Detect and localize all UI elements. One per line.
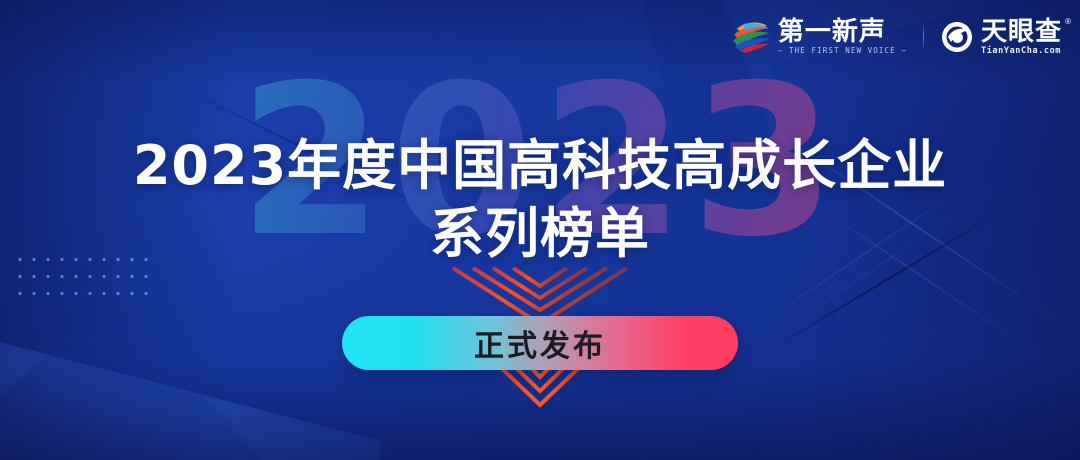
logo-tianyancha[interactable]: 天眼查 TianYanCha.com ® xyxy=(940,18,1062,56)
headline-line-2: 系列榜单 xyxy=(0,200,1080,268)
logo-tianyancha-tagline: TianYanCha.com xyxy=(981,46,1062,56)
swirl-ribbon-logo-icon xyxy=(731,20,771,54)
logo-bar: 第一新声 — THE FIRST NEW VOICE — 天眼查 TianYan… xyxy=(731,14,1062,60)
page-title: 2023年度中国高科技高成长企业 系列榜单 xyxy=(0,132,1080,268)
logo-diyixinsheng[interactable]: 第一新声 — THE FIRST NEW VOICE — xyxy=(731,18,907,56)
poster-banner: 2023 xyxy=(0,0,1080,460)
eye-aperture-logo-icon xyxy=(940,20,974,54)
logo-tianyancha-name: 天眼查 xyxy=(981,18,1062,46)
headline-line-1: 2023年度中国高科技高成长企业 xyxy=(133,134,947,197)
release-cta-label: 正式发布 xyxy=(474,321,606,365)
release-cta-button[interactable]: 正式发布 xyxy=(342,316,738,370)
logo-diyixinsheng-tagline: — THE FIRST NEW VOICE — xyxy=(778,46,907,56)
registered-trademark-mark: ® xyxy=(1065,18,1071,26)
logo-diyixinsheng-name: 第一新声 xyxy=(778,18,907,46)
logo-divider xyxy=(923,22,924,52)
